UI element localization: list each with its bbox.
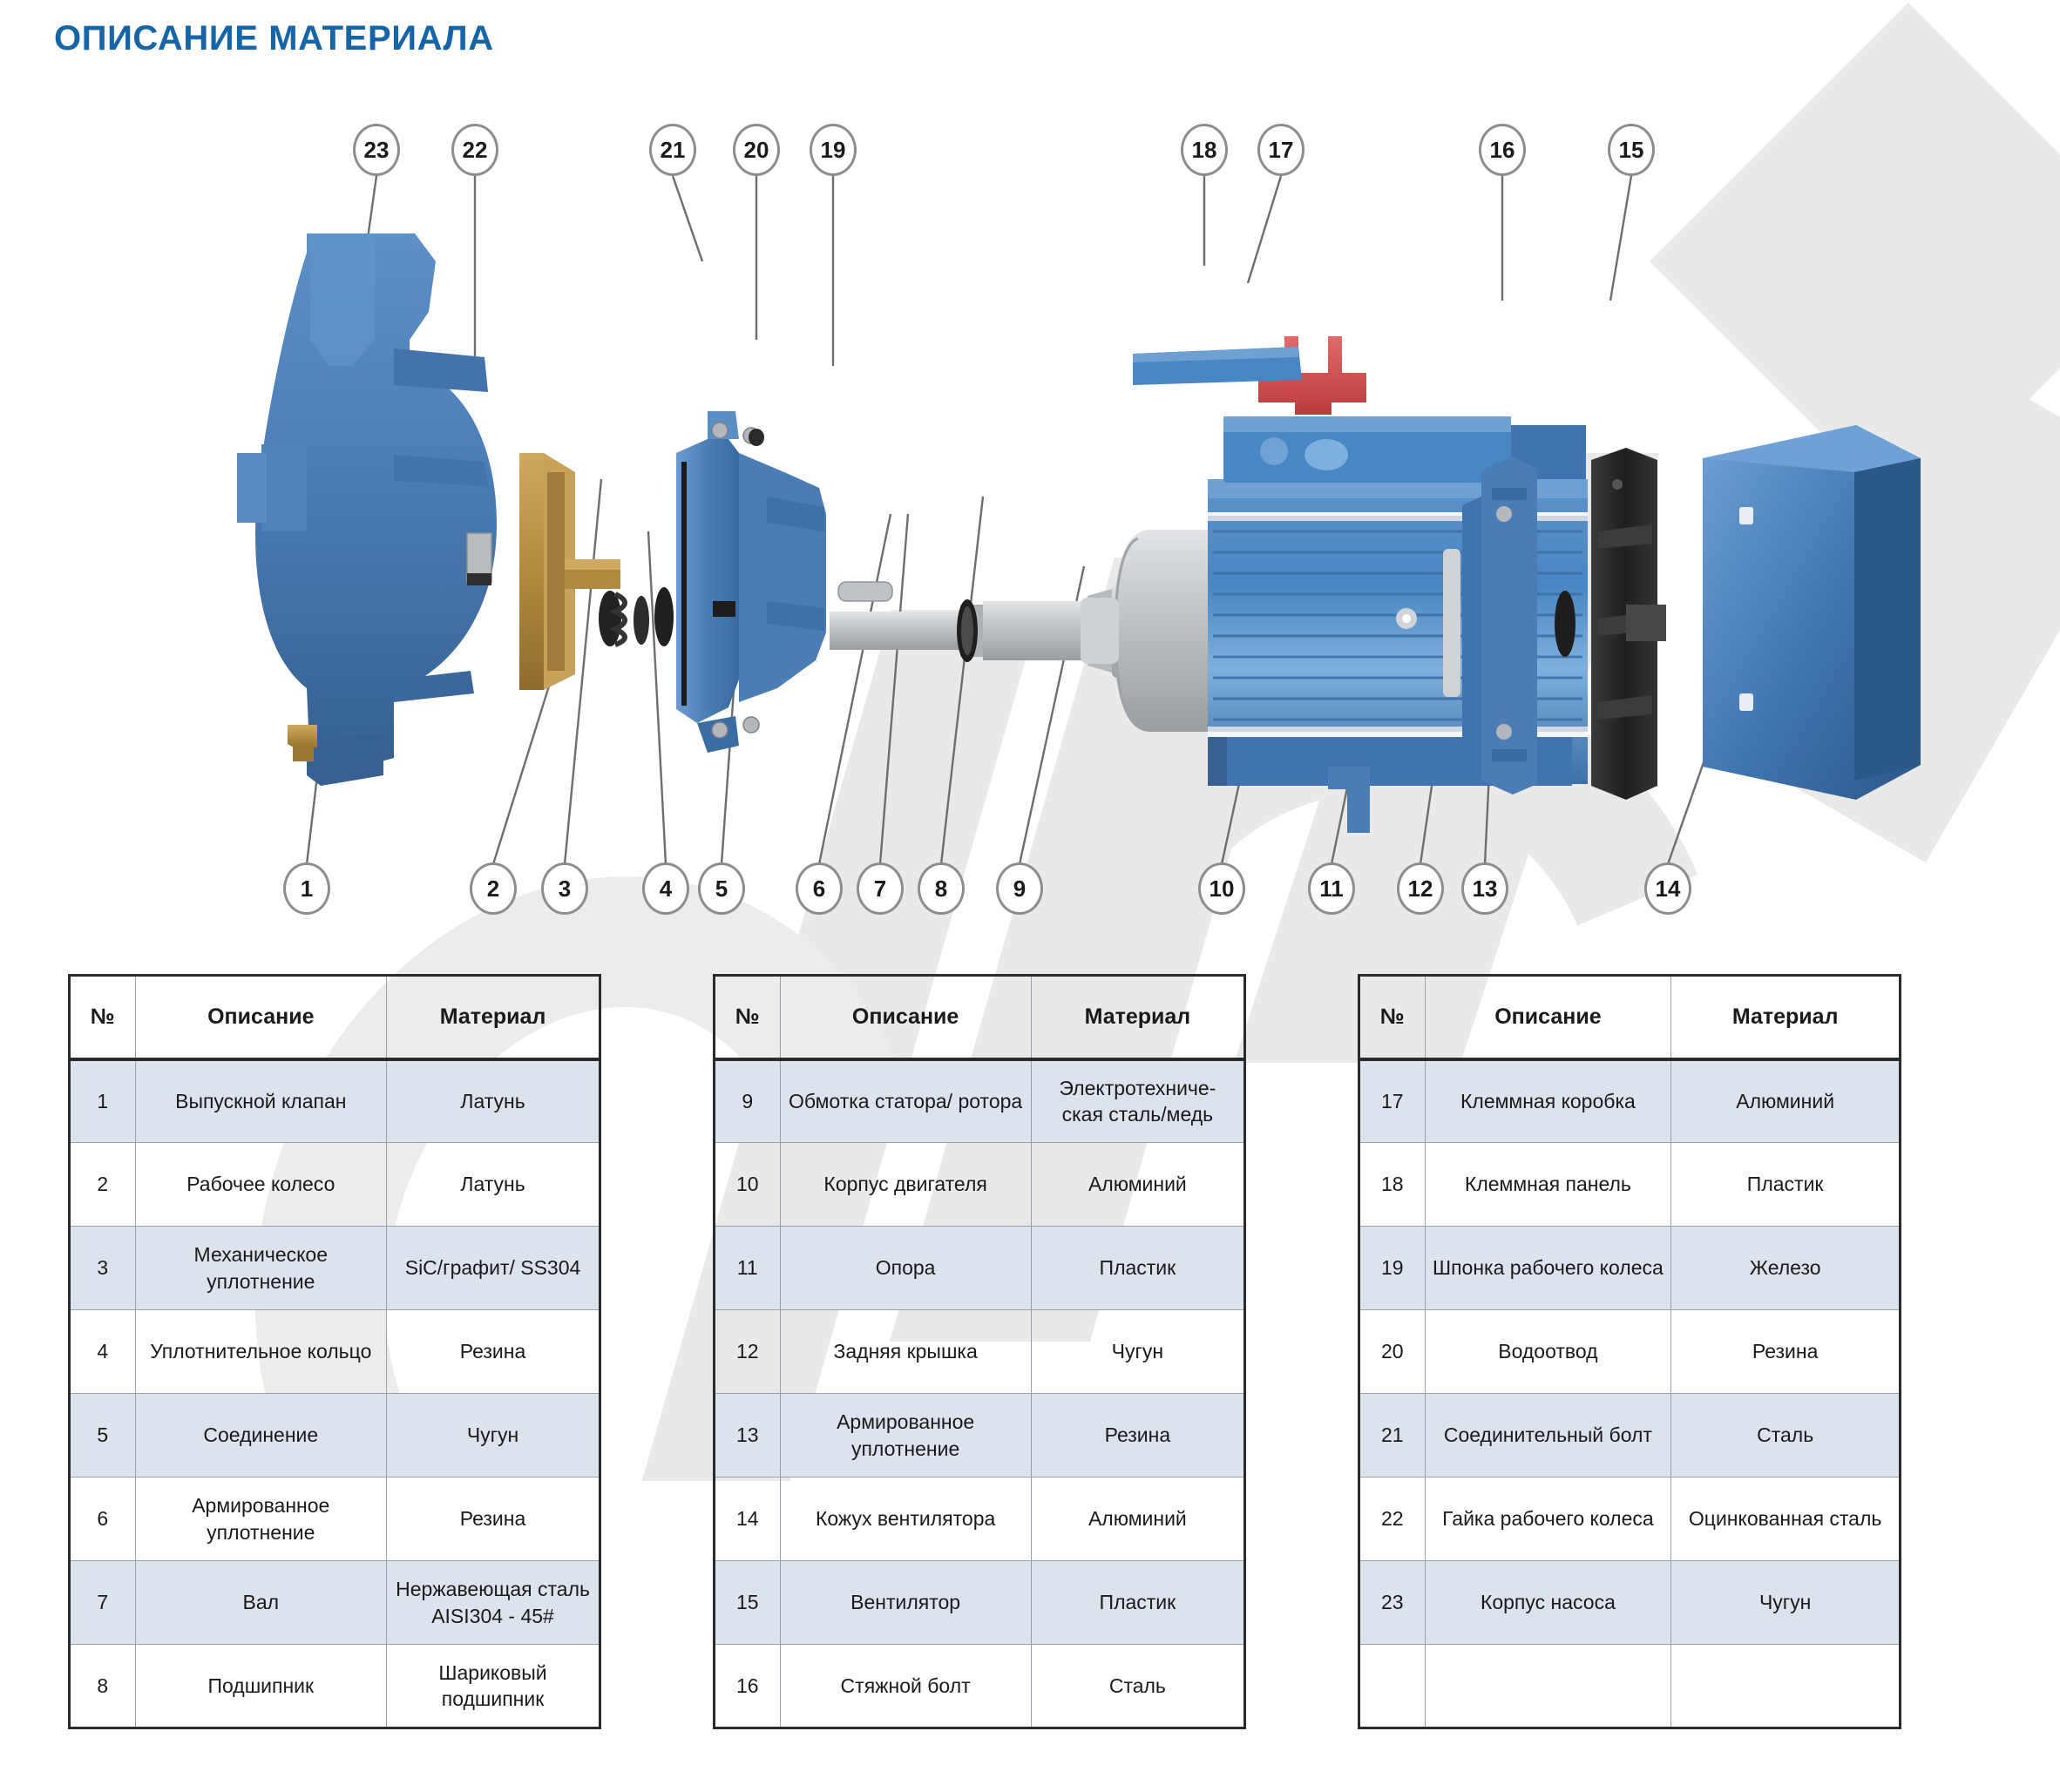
callout-20[interactable]: 20 <box>733 124 780 176</box>
cell-material: Сталь <box>1671 1394 1901 1478</box>
callout-18[interactable]: 18 <box>1181 124 1228 176</box>
cell-description: Гайка рабочего колеса <box>1425 1478 1671 1561</box>
table-body-3: 17Клеммная коробкаАлюминий18Клеммная пан… <box>1359 1059 1901 1728</box>
table-row: 5СоединениеЧугун <box>70 1394 600 1478</box>
cell-description: Шпонка рабочего колеса <box>1425 1227 1671 1310</box>
callout-21[interactable]: 21 <box>649 124 696 176</box>
cell-number: 7 <box>70 1561 136 1645</box>
cell-number: 13 <box>715 1394 781 1478</box>
table-row: 21Соединительный болтСталь <box>1359 1394 1901 1478</box>
table-row: 7ВалНержавеющая сталь AISI304 - 45# <box>70 1561 600 1645</box>
cell-number: 10 <box>715 1143 781 1227</box>
cell-material: Резина <box>387 1310 600 1394</box>
cell-material: Шариковый подшипник <box>387 1645 600 1728</box>
cell-material: Латунь <box>387 1143 600 1227</box>
cell-description: Соединение <box>135 1394 387 1478</box>
callout-5[interactable]: 5 <box>698 862 745 915</box>
cell-material: Пластик <box>1671 1143 1901 1227</box>
cell-material: Железо <box>1671 1227 1901 1310</box>
reinforced-seal-part <box>1555 591 1575 657</box>
cell-material: Чугун <box>1031 1310 1244 1394</box>
cell-description: Армированное уплотнение <box>135 1478 387 1561</box>
cell-material: Нержавеющая сталь AISI304 - 45# <box>387 1561 600 1645</box>
bearing-part <box>957 599 978 662</box>
table-row: 22Гайка рабочего колесаОцинкованная стал… <box>1359 1478 1901 1561</box>
cell-description: Подшипник <box>135 1645 387 1728</box>
table-row: 6Армированное уплотнениеРезина <box>70 1478 600 1561</box>
table-row: 23Корпус насосаЧугун <box>1359 1561 1901 1645</box>
callout-2[interactable]: 2 <box>470 862 517 915</box>
callout-19[interactable]: 19 <box>810 124 857 176</box>
cell-number: 22 <box>1359 1478 1426 1561</box>
cell-material: Пластик <box>1031 1561 1244 1645</box>
cell-material: Алюминий <box>1031 1478 1244 1561</box>
fan-cover-part <box>1703 425 1921 800</box>
sealing-ring-part <box>654 587 674 646</box>
table-row: 9Обмотка статора/ ротораЭлектротехниче- … <box>715 1059 1245 1143</box>
cell-number: 14 <box>715 1478 781 1561</box>
column-header-material: Материал <box>1671 976 1901 1059</box>
table-body-2: 9Обмотка статора/ ротораЭлектротехниче- … <box>715 1059 1245 1728</box>
cell-material: Алюминий <box>1031 1143 1244 1227</box>
material-table-3: № Описание Материал 17Клеммная коробкаАл… <box>1358 974 1901 1729</box>
table-row <box>1359 1645 1901 1728</box>
cell-number: 16 <box>715 1645 781 1728</box>
table-row: 18Клеммная панельПластик <box>1359 1143 1901 1227</box>
mechanical-seal-part <box>599 591 649 646</box>
cell-description <box>1425 1645 1671 1728</box>
column-header-number: № <box>715 976 781 1059</box>
table-row: 2Рабочее колесоЛатунь <box>70 1143 600 1227</box>
cell-description: Механическое уплотнение <box>135 1227 387 1310</box>
impeller-part <box>519 453 620 690</box>
callout-4[interactable]: 4 <box>642 862 689 915</box>
callout-7[interactable]: 7 <box>857 862 904 915</box>
material-table-2: № Описание Материал 9Обмотка статора/ ро… <box>713 974 1246 1729</box>
callout-17[interactable]: 17 <box>1257 124 1304 176</box>
callout-13[interactable]: 13 <box>1461 862 1508 915</box>
table-row: 15ВентиляторПластик <box>715 1561 1245 1645</box>
impeller-nut-part <box>467 533 491 585</box>
cell-description: Клеммная коробка <box>1425 1059 1671 1143</box>
cell-number: 21 <box>1359 1394 1426 1478</box>
cell-number: 1 <box>70 1059 136 1143</box>
table-row: 20ВодоотводРезина <box>1359 1310 1901 1394</box>
impeller-key-part <box>838 582 892 601</box>
callout-16[interactable]: 16 <box>1479 124 1526 176</box>
table-row: 13Армированное уплотнениеРезина <box>715 1394 1245 1478</box>
column-header-number: № <box>70 976 136 1059</box>
coupling-bracket-part <box>676 411 826 753</box>
cell-material: SiC/графит/ SS304 <box>387 1227 600 1310</box>
material-table-1: № Описание Материал 1Выпускной клапанЛат… <box>68 974 601 1729</box>
callout-6[interactable]: 6 <box>796 862 843 915</box>
cell-number: 2 <box>70 1143 136 1227</box>
table-row: 4Уплотнительное кольцоРезина <box>70 1310 600 1394</box>
cell-description: Выпускной клапан <box>135 1059 387 1143</box>
cell-description: Корпус насоса <box>1425 1561 1671 1645</box>
cell-number: 5 <box>70 1394 136 1478</box>
page-title: ОПИСАНИЕ МАТЕРИАЛА <box>54 19 494 58</box>
pump-casing-part <box>237 233 497 786</box>
table-header-row: № Описание Материал <box>70 976 600 1059</box>
cell-number: 9 <box>715 1059 781 1143</box>
table-row: 14Кожух вентилятораАлюминий <box>715 1478 1245 1561</box>
cell-number: 17 <box>1359 1059 1426 1143</box>
cell-material: Резина <box>1031 1394 1244 1478</box>
cell-material: Резина <box>387 1478 600 1561</box>
cell-number: 4 <box>70 1310 136 1394</box>
table-row: 17Клеммная коробкаАлюминий <box>1359 1059 1901 1143</box>
table-row: 3Механическое уплотнениеSiC/графит/ SS30… <box>70 1227 600 1310</box>
table-header-row: № Описание Материал <box>1359 976 1901 1059</box>
cell-material: Пластик <box>1031 1227 1244 1310</box>
column-header-description: Описание <box>1425 976 1671 1059</box>
cell-description: Вентилятор <box>780 1561 1031 1645</box>
column-header-description: Описание <box>780 976 1031 1059</box>
table-row: 19Шпонка рабочего колесаЖелезо <box>1359 1227 1901 1310</box>
callout-3[interactable]: 3 <box>541 862 588 915</box>
material-description-page: ОПИСАНИЕ МАТЕРИАЛА <box>0 0 2060 1792</box>
callout-9[interactable]: 9 <box>996 862 1043 915</box>
table-header-row: № Описание Материал <box>715 976 1245 1059</box>
cell-number: 18 <box>1359 1143 1426 1227</box>
callout-12[interactable]: 12 <box>1397 862 1444 915</box>
table-row: 10Корпус двигателяАлюминий <box>715 1143 1245 1227</box>
column-header-description: Описание <box>135 976 387 1059</box>
terminal-box-cover-part <box>1133 347 1302 385</box>
cell-description: Вал <box>135 1561 387 1645</box>
cell-material: Алюминий <box>1671 1059 1901 1143</box>
cell-material: Чугун <box>1671 1561 1901 1645</box>
cell-description: Рабочее колесо <box>135 1143 387 1227</box>
fan-part <box>1591 448 1666 800</box>
pump-exploded-diagram: 23 22 21 20 19 18 17 16 15 1 2 3 4 5 6 7… <box>0 78 2060 950</box>
callout-23[interactable]: 23 <box>353 124 400 176</box>
cell-number: 12 <box>715 1310 781 1394</box>
cell-description: Опора <box>780 1227 1031 1310</box>
cell-material: Латунь <box>387 1059 600 1143</box>
callout-15[interactable]: 15 <box>1608 124 1655 176</box>
cell-number: 11 <box>715 1227 781 1310</box>
cell-description: Кожух вентилятора <box>780 1478 1031 1561</box>
cell-material: Сталь <box>1031 1645 1244 1728</box>
cell-number: 23 <box>1359 1561 1426 1645</box>
column-header-material: Материал <box>1031 976 1244 1059</box>
callout-1[interactable]: 1 <box>283 862 330 915</box>
table-row: 12Задняя крышкаЧугун <box>715 1310 1245 1394</box>
cell-number: 15 <box>715 1561 781 1645</box>
callout-10[interactable]: 10 <box>1198 862 1245 915</box>
cell-description: Обмотка статора/ ротора <box>780 1059 1031 1143</box>
stator-rotor-winding-part <box>1081 530 1208 732</box>
cell-description: Клеммная панель <box>1425 1143 1671 1227</box>
column-header-material: Материал <box>387 976 600 1059</box>
callout-14[interactable]: 14 <box>1644 862 1691 915</box>
water-drain-part <box>749 429 764 446</box>
cell-material: Чугун <box>387 1394 600 1478</box>
cell-description: Армированное уплотнение <box>780 1394 1031 1478</box>
callout-8[interactable]: 8 <box>918 862 965 915</box>
cell-material: Оцинкованная сталь <box>1671 1478 1901 1561</box>
cell-number: 19 <box>1359 1227 1426 1310</box>
cell-number: 3 <box>70 1227 136 1310</box>
cell-description: Корпус двигателя <box>780 1143 1031 1227</box>
callout-22[interactable]: 22 <box>451 124 498 176</box>
callout-11[interactable]: 11 <box>1308 862 1355 915</box>
cell-description: Уплотнительное кольцо <box>135 1310 387 1394</box>
cell-number: 20 <box>1359 1310 1426 1394</box>
cell-description: Водоотвод <box>1425 1310 1671 1394</box>
cell-number <box>1359 1645 1426 1728</box>
cell-material: Резина <box>1671 1310 1901 1394</box>
cell-number: 8 <box>70 1645 136 1728</box>
cell-description: Стяжной болт <box>780 1645 1031 1728</box>
cell-material: Электротехниче- ская сталь/медь <box>1031 1059 1244 1143</box>
table-body-1: 1Выпускной клапанЛатунь2Рабочее колесоЛа… <box>70 1059 600 1728</box>
cell-description: Соединительный болт <box>1425 1394 1671 1478</box>
table-row: 1Выпускной клапанЛатунь <box>70 1059 600 1143</box>
table-row: 11ОпораПластик <box>715 1227 1245 1310</box>
cell-number: 6 <box>70 1478 136 1561</box>
table-row: 8ПодшипникШариковый подшипник <box>70 1645 600 1728</box>
cell-description: Задняя крышка <box>780 1310 1031 1394</box>
cell-material <box>1671 1645 1901 1728</box>
support-foot-part <box>1328 767 1370 833</box>
table-row: 16Стяжной болтСталь <box>715 1645 1245 1728</box>
column-header-number: № <box>1359 976 1426 1059</box>
